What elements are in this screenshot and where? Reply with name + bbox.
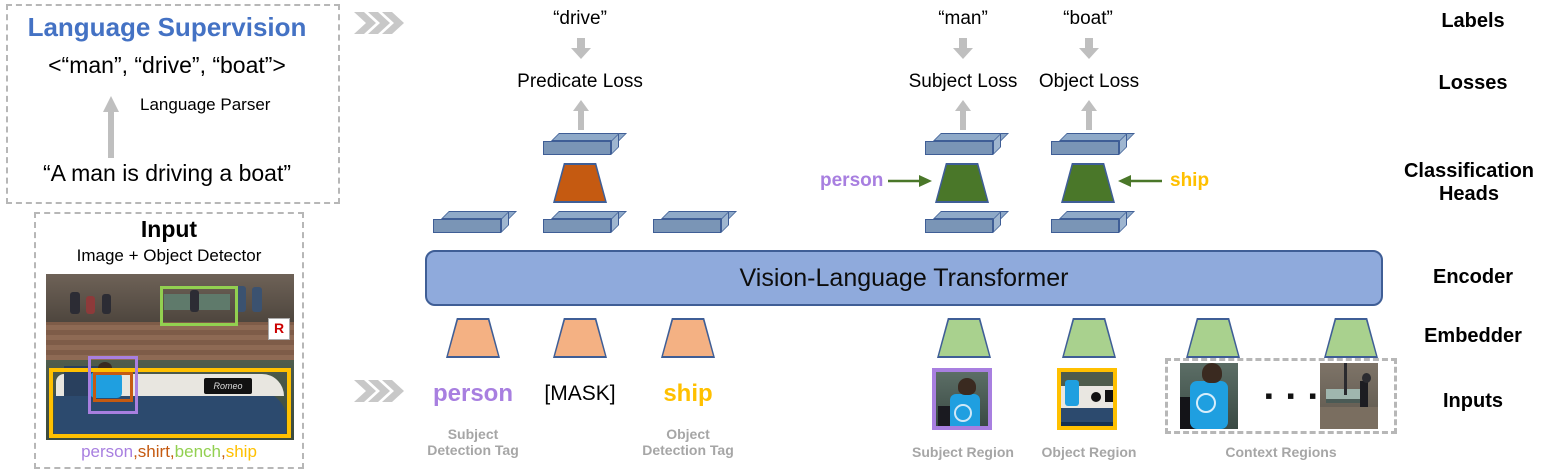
row-label-classification-heads: Classification Heads — [1390, 160, 1548, 206]
encoder-output-bar-5 — [1051, 211, 1127, 233]
green-arrow-left-icon — [1118, 173, 1162, 194]
context-regions-ellipsis: ▪ ▪ ▪ — [1265, 383, 1321, 409]
caption-line-2: Detection Tag — [427, 442, 519, 458]
detection-tag-shirt: shirt — [138, 442, 170, 462]
detection-box-shirt — [93, 372, 133, 402]
vision-language-transformer: Vision-Language Transformer — [425, 250, 1383, 306]
predicate-loss-label: Predicate Loss — [505, 71, 655, 93]
down-arrow-predicate-icon — [570, 38, 592, 65]
supervision-label-person: person — [820, 170, 883, 192]
down-arrow-subject-icon — [952, 38, 974, 65]
output-token-subject — [925, 133, 1001, 155]
predicate-classification-head — [553, 163, 607, 203]
supervision-label-ship: ship — [1170, 170, 1209, 192]
detection-tag-ship: ship — [226, 442, 257, 462]
context-region-crop-1 — [1180, 363, 1238, 429]
embedder-subject-region — [937, 318, 991, 358]
photo-sign-r: R — [268, 318, 290, 340]
green-arrow-right-icon — [888, 173, 932, 194]
caption-line-2: Detection Tag — [642, 442, 734, 458]
row-label-labels: Labels — [1398, 10, 1548, 33]
detection-tag-person: person — [81, 442, 133, 462]
down-arrow-object-icon — [1078, 38, 1100, 65]
label-boat: “boat” — [1013, 8, 1163, 30]
row-label-embedder: Embedder — [1398, 325, 1548, 348]
input-sentence: “A man is driving a boat” — [0, 160, 334, 187]
row-label-line-1: Classification — [1404, 160, 1534, 183]
caption-object-region: Object Region — [1014, 444, 1164, 460]
row-label-losses: Losses — [1398, 72, 1548, 95]
encoder-output-bar-4 — [925, 211, 1001, 233]
detection-tag-bench: bench — [175, 442, 221, 462]
caption-subject-detection-tag: Subject Detection Tag — [398, 426, 548, 458]
detection-tag-list: person, shirt, bench, ship — [34, 442, 304, 462]
caption-context-regions: Context Regions — [1165, 444, 1397, 460]
detection-box-bench — [160, 286, 238, 326]
input-panel-subtitle: Image + Object Detector — [34, 246, 304, 266]
label-drive: “drive” — [505, 8, 655, 30]
object-loss-label: Object Loss — [1014, 71, 1164, 93]
caption-object-detection-tag: Object Detection Tag — [613, 426, 763, 458]
object-region-crop — [1057, 368, 1117, 430]
up-arrow-object-icon — [1080, 100, 1098, 135]
embedder-object-region — [1062, 318, 1116, 358]
subject-region-crop — [932, 368, 992, 430]
row-label-encoder: Encoder — [1398, 266, 1548, 289]
row-label-inputs: Inputs — [1398, 390, 1548, 413]
encoder-output-bar-2 — [543, 211, 619, 233]
embedder-mask-tag — [553, 318, 607, 358]
input-token-ship: ship — [613, 380, 763, 408]
up-arrow-subject-icon — [954, 100, 972, 135]
up-arrow-predicate-icon — [572, 100, 590, 135]
detection-box-ship — [49, 368, 291, 438]
input-image: R Romeo — [46, 274, 294, 440]
object-classification-head — [1061, 163, 1115, 203]
language-supervision-title: Language Supervision — [0, 12, 334, 43]
subject-classification-head — [935, 163, 989, 203]
context-region-crop-2 — [1320, 363, 1378, 429]
embedder-context-region-1 — [1186, 318, 1240, 358]
row-label-line-2: Heads — [1439, 183, 1499, 206]
caption-line-1: Subject — [448, 426, 499, 442]
chevron-right-triple-icon — [352, 10, 408, 36]
output-token-predicate — [543, 133, 619, 155]
caption-line-1: Object — [666, 426, 710, 442]
embedder-subject-tag — [446, 318, 500, 358]
language-parser-arrow-icon — [102, 96, 120, 158]
embedder-context-region-2 — [1324, 318, 1378, 358]
embedder-object-tag — [661, 318, 715, 358]
output-token-object — [1051, 133, 1127, 155]
encoder-output-bar-1 — [433, 211, 509, 233]
encoder-output-bar-3 — [653, 211, 729, 233]
language-triple: <“man”, “drive”, “boat”> — [0, 52, 334, 79]
input-panel-title: Input — [34, 216, 304, 243]
language-parser-label: Language Parser — [140, 95, 330, 115]
